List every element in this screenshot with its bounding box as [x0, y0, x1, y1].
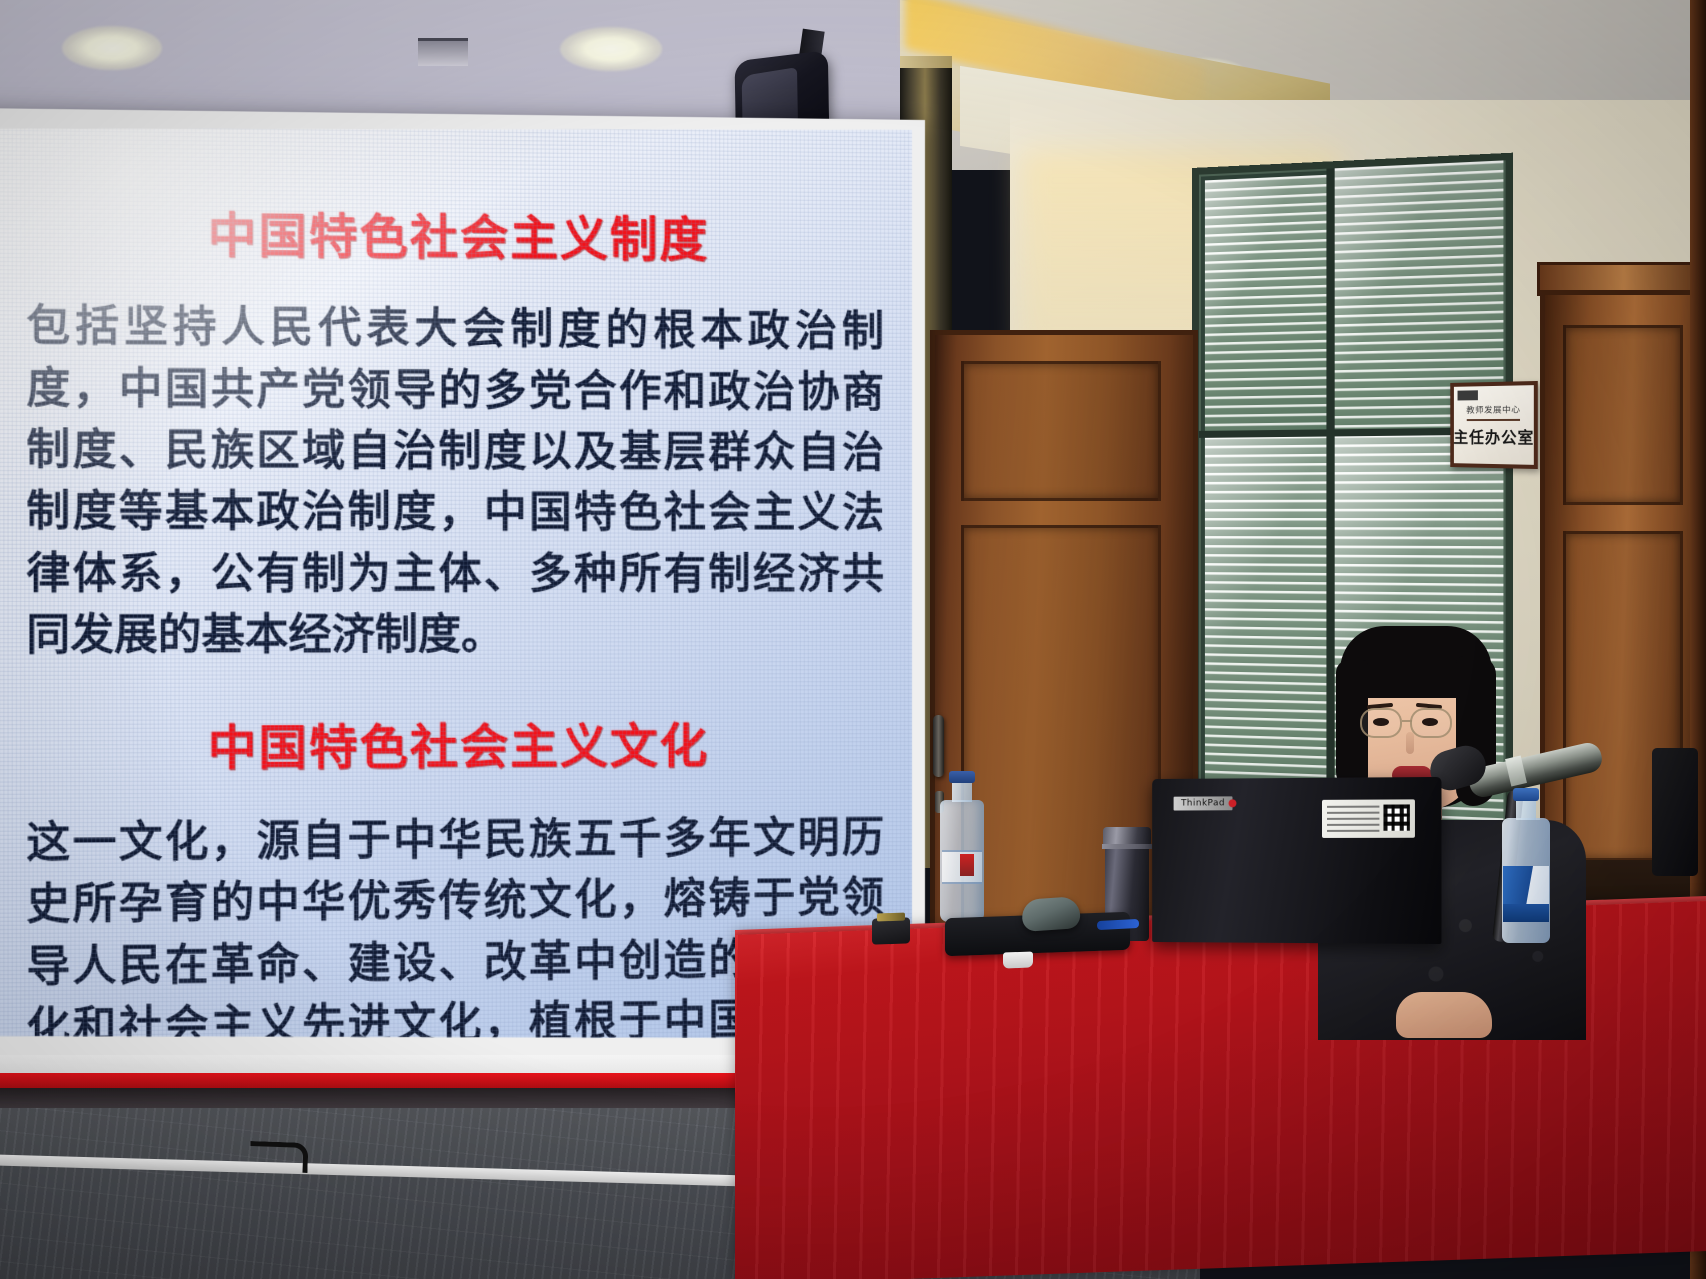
presenter-clicker[interactable] — [872, 917, 910, 944]
qr-code-icon — [1383, 804, 1409, 830]
sign-sub-label: 教师发展中心 — [1466, 403, 1520, 415]
window-pane — [1205, 175, 1327, 431]
slide-heading-2: 中国特色社会主义文化 — [26, 719, 884, 777]
water-bottle-second[interactable] — [1502, 818, 1550, 943]
downlight-icon — [560, 27, 662, 71]
glass-sheen — [1205, 175, 1327, 431]
floor-cable — [249, 1141, 308, 1173]
door-panel — [1563, 325, 1683, 505]
bottle-label-lower — [1503, 904, 1549, 922]
sticker-text-lines — [1327, 806, 1379, 832]
bottle-neck — [1516, 798, 1536, 820]
eyeglasses-bridge — [1402, 720, 1412, 722]
laptop-brand-label: ThinkPad — [1174, 796, 1233, 810]
door-sign-plaque: 教师发展中心 主任办公室 — [1450, 381, 1538, 469]
slide-content: 中国特色社会主义制度 包括坚持人民代表大会制度的根本政治制度，中国共产党领导的多… — [0, 118, 912, 1049]
slide-heading-1: 中国特色社会主义制度 — [26, 207, 884, 270]
speaker-box — [1652, 748, 1698, 876]
eye-left — [1373, 718, 1389, 726]
water-bottle[interactable] — [940, 800, 984, 922]
slide-paragraph-1: 包括坚持人民代表大会制度的根本政治制度，中国共产党领导的多党合作和政治协商制度、… — [26, 295, 884, 666]
bottle-cap — [949, 771, 975, 783]
hand — [1396, 992, 1492, 1038]
bottle-label-accent — [960, 854, 974, 876]
laptop-logo-dot-icon — [1229, 799, 1237, 807]
sign-main-label: 主任办公室 — [1453, 423, 1534, 448]
small-cup[interactable] — [1003, 951, 1033, 968]
clicker-top-button[interactable] — [877, 913, 905, 922]
nose — [1406, 732, 1414, 754]
ceiling-vent — [418, 38, 468, 66]
lecture-room-scene: 教师发展中心 主任办公室 中国特色社会主义制度 包括坚持人民代表大会制度的根本政… — [0, 0, 1706, 1279]
sign-divider — [1467, 418, 1520, 420]
door-panel — [961, 361, 1161, 501]
eye-right — [1422, 718, 1438, 726]
slide-surface: 中国特色社会主义制度 包括坚持人民代表大会制度的根本政治制度，中国共产党领导的多… — [0, 118, 912, 1049]
laptop[interactable]: ThinkPad — [1152, 777, 1441, 944]
sign-badge — [1458, 390, 1478, 400]
bottle-neck — [952, 780, 972, 802]
downlight-icon — [62, 26, 162, 70]
door-handle[interactable] — [933, 715, 944, 777]
thermos-ring — [1102, 844, 1152, 849]
bottle-cap — [1513, 788, 1539, 801]
laptop-asset-sticker — [1322, 799, 1415, 838]
computer-mouse[interactable] — [1021, 896, 1081, 932]
